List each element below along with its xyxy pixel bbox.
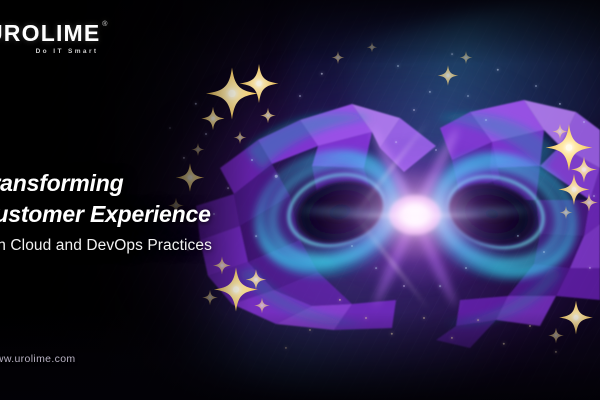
core-ray-horizontal (340, 214, 490, 217)
vignette-bottom (0, 312, 600, 400)
brand-logo[interactable]: UROLIME ® Do IT Smart (0, 22, 100, 55)
headline-block: Transforming Customer Experience with Cl… (0, 168, 278, 259)
promotional-banner: UROLIME ® Do IT Smart Transforming Custo… (0, 0, 600, 400)
logo-wordmark-text: UROLIME (0, 20, 100, 46)
logo-wordmark: UROLIME ® (0, 22, 100, 45)
headline-line-2: Customer Experience (0, 199, 278, 230)
headline-line-1: Transforming (0, 168, 278, 199)
headline-line-3: with Cloud and DevOps Practices (0, 233, 278, 259)
registered-trademark-icon: ® (102, 21, 107, 28)
logo-tagline: Do IT Smart (0, 48, 100, 55)
website-url[interactable]: www.urolime.com (0, 353, 76, 365)
